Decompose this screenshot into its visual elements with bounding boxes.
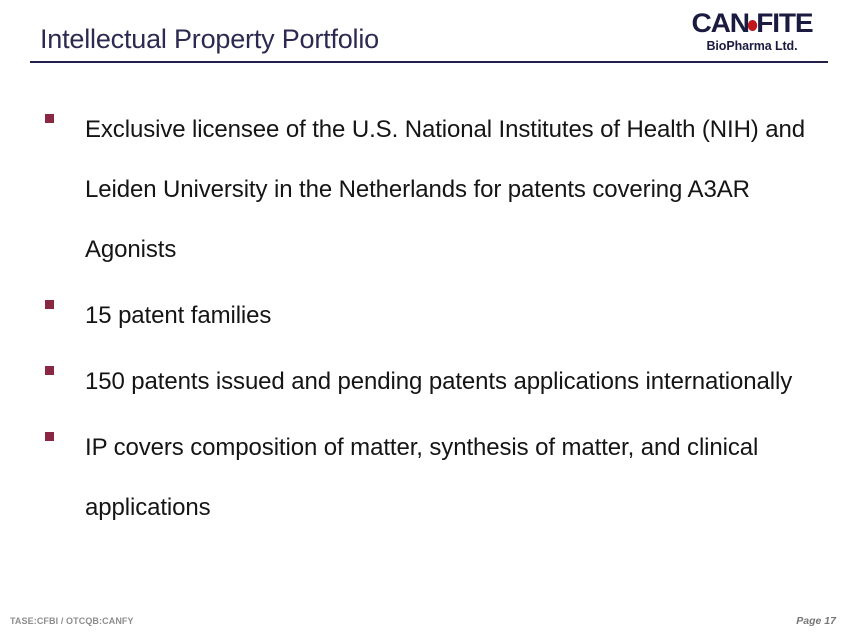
logo-word-part2: FITE xyxy=(756,8,812,38)
list-item: Exclusive licensee of the U.S. National … xyxy=(45,100,820,280)
bullet-list: Exclusive licensee of the U.S. National … xyxy=(45,100,820,544)
company-logo: CANFITE BioPharma Ltd. xyxy=(676,10,828,53)
list-item-text: 15 patent families xyxy=(85,286,805,346)
logo-subtitle: BioPharma Ltd. xyxy=(676,40,828,53)
list-item-text: Exclusive licensee of the U.S. National … xyxy=(85,100,815,280)
logo-word-part1: CAN xyxy=(692,8,749,38)
square-bullet-icon xyxy=(45,432,54,441)
list-item-text: 150 patents issued and pending patents a… xyxy=(85,352,815,412)
list-item: IP covers composition of matter, synthes… xyxy=(45,418,820,538)
footer-tickers: TASE:CFBI / OTCQB:CANFY xyxy=(10,616,134,626)
list-item-text: IP covers composition of matter, synthes… xyxy=(85,418,815,538)
square-bullet-icon xyxy=(45,300,54,309)
title-divider xyxy=(30,61,828,63)
slide-canvas: Intellectual Property Portfolio CANFITE … xyxy=(0,0,850,638)
list-item: 15 patent families xyxy=(45,286,820,346)
list-item: 150 patents issued and pending patents a… xyxy=(45,352,820,412)
square-bullet-icon xyxy=(45,114,54,123)
square-bullet-icon xyxy=(45,366,54,375)
footer-page-number: Page 17 xyxy=(796,615,836,627)
logo-wordmark: CANFITE xyxy=(673,10,831,37)
page-title: Intellectual Property Portfolio xyxy=(40,24,379,55)
